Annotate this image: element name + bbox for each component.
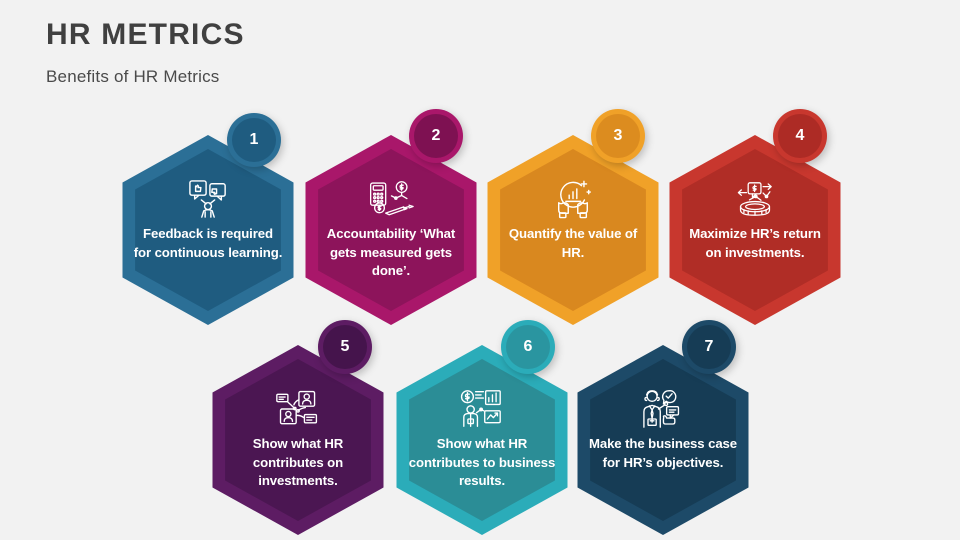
number-badge-label: 3 [614,128,623,144]
hexagon-label: Show what HR contributes on investments. [223,435,373,491]
hexagon-node-5[interactable]: Show what HR contributes on investments. [203,345,393,535]
hexagon-content: Accountability ‘What gets measured gets … [310,149,472,311]
hexagon-content: Show what HR contributes to business res… [401,359,563,521]
hexagon-label: Maximize HR’s return on investments. [680,225,830,262]
people-network-icon [275,389,321,429]
hexagon-content: Quantify the value of HR. [492,149,654,311]
number-badge-core: 2 [414,114,458,158]
number-badge-label: 6 [524,339,533,355]
page-subtitle: Benefits of HR Metrics [46,67,646,87]
feedback-bubbles-icon [185,179,231,219]
number-badge-4[interactable]: 4 [773,109,827,163]
coin-money-flow-icon [732,179,778,219]
number-badge-core: 5 [323,325,367,369]
businessman-approval-icon [640,389,686,429]
number-badge-core: 3 [596,114,640,158]
presenter-charts-icon [459,389,505,429]
hexagon-content: Make the business case for HR’s objectiv… [582,359,744,521]
hexagon-label: Quantify the value of HR. [498,225,648,262]
number-badge-label: 7 [705,339,714,355]
number-badge-7[interactable]: 7 [682,320,736,374]
hexagon-label: Accountability ‘What gets measured gets … [316,225,466,281]
calculator-dollar-pencil-icon [368,179,414,219]
hexagon-content: Feedback is required for continuous lear… [127,149,289,311]
number-badge-label: 4 [796,128,805,144]
hexagon-node-1[interactable]: Feedback is required for continuous lear… [113,135,303,325]
number-badge-label: 5 [341,339,350,355]
hands-holding-chart-icon [550,179,596,219]
number-badge-core: 7 [687,325,731,369]
hexagon-node-7[interactable]: Make the business case for HR’s objectiv… [568,345,758,535]
slide-header: HR METRICS Benefits of HR Metrics [46,18,646,87]
number-badge-6[interactable]: 6 [501,320,555,374]
hexagon-content: Maximize HR’s return on investments. [674,149,836,311]
slide-canvas: HR METRICS Benefits of HR Metrics Feedba… [0,0,960,540]
number-badge-core: 6 [506,325,550,369]
number-badge-core: 4 [778,114,822,158]
page-title: HR METRICS [46,18,646,53]
hexagon-node-6[interactable]: Show what HR contributes to business res… [387,345,577,535]
hexagon-label: Feedback is required for continuous lear… [133,225,283,262]
hexagon-node-4[interactable]: Maximize HR’s return on investments. [660,135,850,325]
number-badge-2[interactable]: 2 [409,109,463,163]
hexagon-label: Make the business case for HR’s objectiv… [588,435,738,472]
hexagon-node-3[interactable]: Quantify the value of HR. [478,135,668,325]
number-badge-1[interactable]: 1 [227,113,281,167]
hexagon-content: Show what HR contributes on investments. [217,359,379,521]
number-badge-3[interactable]: 3 [591,109,645,163]
hexagon-label: Show what HR contributes to business res… [407,435,557,491]
number-badge-core: 1 [232,118,276,162]
number-badge-5[interactable]: 5 [318,320,372,374]
number-badge-label: 1 [250,132,259,148]
hexagon-node-2[interactable]: Accountability ‘What gets measured gets … [296,135,486,325]
number-badge-label: 2 [432,128,441,144]
